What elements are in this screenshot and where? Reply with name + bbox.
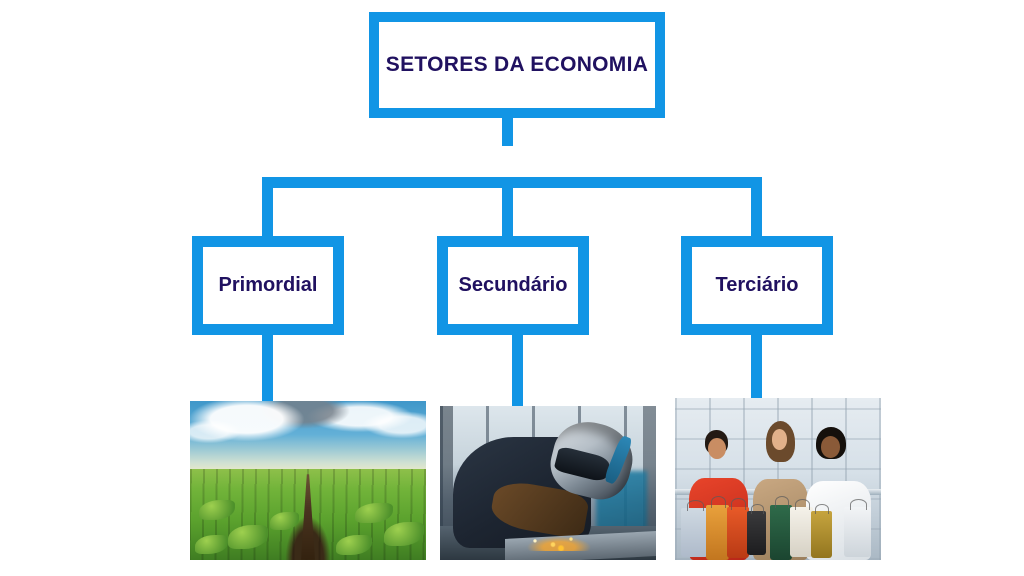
helmet-visor	[553, 446, 610, 483]
connector-leg-terciario	[751, 335, 762, 401]
node-primordial-label: Primordial	[219, 274, 318, 297]
welder-industry-photo	[440, 406, 656, 560]
shopping-bag	[811, 511, 832, 558]
node-terciario-label: Terciário	[716, 274, 799, 297]
connector-leg-secundario	[512, 335, 523, 406]
welding-sparks	[513, 505, 612, 551]
node-terciario[interactable]: Terciário	[681, 236, 833, 335]
connector-drop-primordial	[262, 177, 273, 236]
shopping-bag	[770, 505, 793, 560]
face-shape	[821, 436, 840, 458]
node-title-label: SETORES DA ECONOMIA	[386, 53, 648, 77]
shopping-bag	[844, 507, 871, 557]
connector-title-stub	[502, 118, 513, 146]
shopping-bag	[747, 511, 766, 555]
connector-drop-secundario	[502, 177, 513, 236]
shopping-bag	[727, 507, 750, 559]
face-shape	[708, 438, 726, 459]
node-secundario-label: Secundário	[459, 274, 568, 297]
shopping-retail-photo	[675, 398, 881, 560]
shopping-bag	[706, 505, 729, 560]
face-shape	[772, 429, 788, 450]
node-primordial[interactable]: Primordial	[192, 236, 344, 335]
sky-region	[190, 401, 426, 471]
connector-leg-primordial	[262, 335, 273, 401]
agriculture-field-photo	[190, 401, 426, 560]
node-secundario[interactable]: Secundário	[437, 236, 589, 335]
node-setores-da-economia[interactable]: SETORES DA ECONOMIA	[369, 12, 665, 118]
diagram-canvas: SETORES DA ECONOMIA Primordial Secundári…	[0, 0, 1024, 576]
shopping-bag	[790, 507, 813, 557]
connector-drop-terciario	[751, 177, 762, 236]
shopping-bag	[681, 508, 708, 557]
